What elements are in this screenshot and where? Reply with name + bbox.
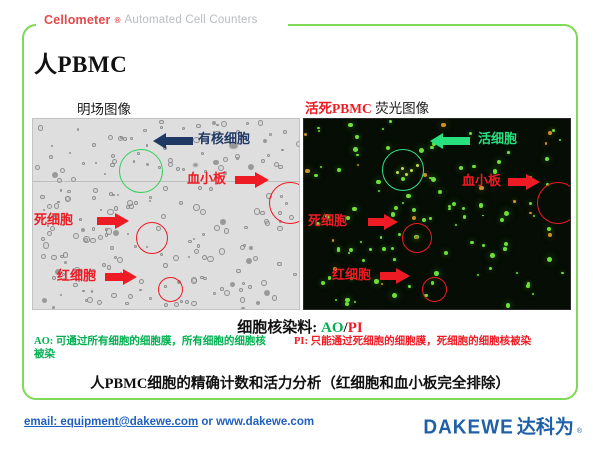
logo-registered-icon: ®: [577, 428, 582, 435]
arrow-right-red-icon: [105, 269, 139, 285]
arrow-right-red-icon: [508, 174, 542, 190]
footer-email-link[interactable]: email: equipment@dakewe.com: [24, 416, 198, 428]
conclusion-text: 人PBMC细胞的精确计数和活力分析（红细胞和血小板完全排除）: [22, 372, 578, 393]
anno-fluorescence-platelet-label: 血小板: [462, 170, 501, 189]
arrow-right-red-icon: [380, 268, 414, 284]
anno-fluorescence-dead-label: 死细胞: [308, 210, 347, 229]
stain-title-prefix: 细胞核染料:: [237, 320, 321, 336]
fluorescence-caption: 活死PBMC 荧光图像: [305, 97, 429, 117]
slide-footer: email: equipment@dakewe.com or www.dakew…: [0, 404, 600, 450]
fluorescence-rbc-circle: [422, 277, 447, 302]
brightfield-nucleated-circle: [119, 149, 163, 193]
stain-title: 细胞核染料: AO/PI: [22, 316, 578, 337]
fluorescence-platelet-circle: [537, 182, 571, 224]
anno-brightfield-dead-label: 死细胞: [34, 209, 73, 228]
arrow-right-red-icon: [97, 213, 131, 229]
brand-subtitle: Automated Cell Counters: [125, 14, 258, 26]
fluorescence-dead-cell-circle: [402, 223, 432, 253]
brand-header: Cellometer® Automated Cell Counters: [38, 13, 264, 27]
anno-brightfield-platelet-label: 血小板: [187, 168, 226, 187]
anno-fluorescence-rbc-label: 红细胞: [332, 264, 371, 283]
fluorescence-live-circle: [382, 149, 424, 191]
arrow-right-red-icon: [368, 214, 402, 230]
registered-mark-icon: ®: [115, 16, 121, 25]
footer-conjunction: or: [198, 416, 216, 428]
arrow-right-red-icon: [235, 172, 269, 188]
brightfield-caption: 明场图像: [77, 98, 131, 118]
brightfield-dead-cell-circle: [136, 222, 168, 254]
stain-pi-description: PI: 只能通过死细胞的细胞膜，死细胞的细胞核被染: [294, 335, 544, 348]
logo-text-cn: 达科为: [517, 412, 574, 439]
footer-website-link[interactable]: www.dakewe.com: [216, 416, 314, 428]
slide-root: Cellometer® Automated Cell Counters 人PBM…: [0, 0, 600, 450]
arrow-left-navy-icon: [153, 133, 193, 149]
anno-brightfield-rbc-label: 红细胞: [57, 265, 96, 284]
anno-fluorescence-live-label: 活细胞: [478, 128, 517, 147]
slide-content: 人PBMC 明场图像 活死PBMC 荧光图像 有核细胞 血小板: [22, 24, 578, 400]
footer-contact: email: equipment@dakewe.com or www.dakew…: [24, 416, 314, 428]
anno-brightfield-nucleated-label: 有核细胞: [198, 128, 250, 147]
brightfield-rbc-circle: [158, 277, 183, 302]
stain-ao-label: AO: [321, 320, 344, 336]
brand-name: Cellometer: [44, 13, 111, 27]
fluorescence-caption-black: 荧光图像: [372, 101, 429, 116]
arrow-left-green-icon: [430, 133, 470, 149]
fluorescence-caption-red: 活死PBMC: [305, 101, 372, 116]
stain-ao-description: AO: 可通过所有细胞的细胞膜，所有细胞的细胞核被染: [34, 335, 269, 361]
stain-pi-label: PI: [348, 320, 363, 336]
logo-text-en: DAKEWE: [423, 416, 513, 439]
page-title: 人PBMC: [34, 45, 127, 79]
dakewe-logo: DAKEWE达科为®: [423, 412, 582, 439]
